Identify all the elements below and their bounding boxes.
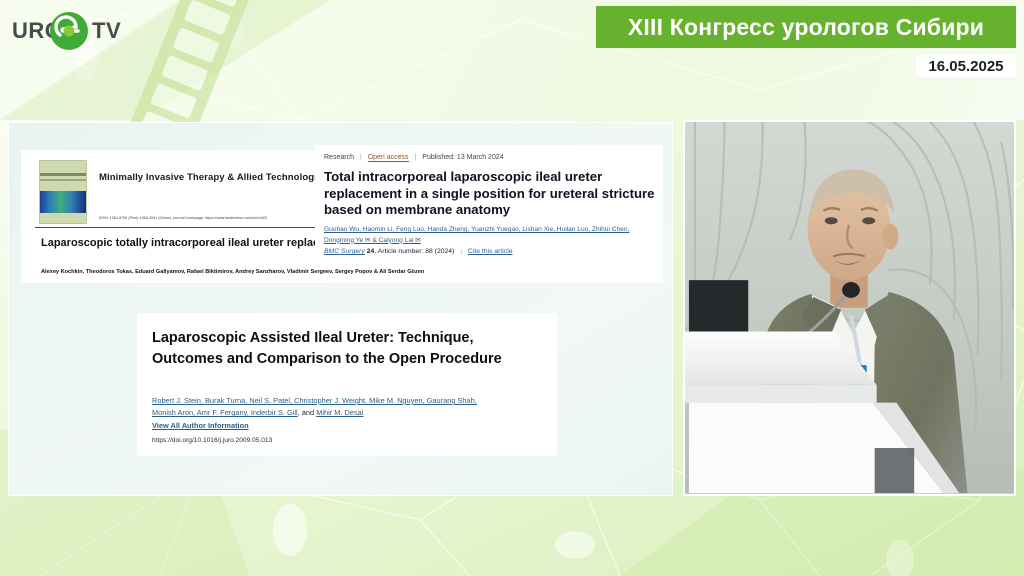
speaker-photo: [685, 122, 1014, 493]
cite-this-article-link[interactable]: Cite this article: [468, 248, 513, 255]
authors-line-2a[interactable]: Monish Aron, Amr F. Fergany, Inderbir S.…: [152, 408, 298, 417]
journal-name-bmc[interactable]: BMC Surgery: [324, 248, 365, 255]
speaker-video-frame: [683, 120, 1016, 496]
published-date-label: Published: 13 March 2024: [422, 154, 503, 161]
congress-title-text: XIII Конгресс урологов Сибири: [628, 14, 984, 41]
urotv-logo[interactable]: URO TV: [8, 8, 128, 48]
article-card-bmc: Research | Open access | Published: 13 M…: [315, 145, 663, 262]
article-number: Article number: 88 (2024): [378, 248, 455, 255]
article-meta-bmc: Research | Open access | Published: 13 M…: [324, 154, 504, 161]
article-citation-bmc: BMC Surgery 24, Article number: 88 (2024…: [324, 248, 512, 255]
open-access-link[interactable]: Open access: [368, 154, 409, 162]
article-type-label: Research: [324, 154, 354, 161]
view-all-author-information-link[interactable]: View All Author Information: [152, 421, 249, 430]
volume-number: 24: [367, 248, 375, 255]
date-badge: 16.05.2025: [916, 55, 1016, 77]
date-text: 16.05.2025: [928, 58, 1003, 75]
article-authors-juro[interactable]: Robert J. Stein, Burak Turna, Neil S. Pa…: [152, 395, 545, 419]
journal-cover-thumbnail: [39, 160, 87, 224]
presentation-screen: URO TV XIII Конгресс урологов Сибири 16.…: [0, 0, 1024, 576]
article-card-juro: Laparoscopic Assisted Ileal Ureter: Tech…: [137, 313, 557, 456]
authors-line-2b[interactable]: Mihir M. Desai: [316, 408, 363, 417]
congress-title-banner: XIII Конгресс урологов Сибири: [596, 6, 1016, 48]
logo-text-tv: TV: [92, 18, 121, 44]
journal-name: Minimally Invasive Therapy & Allied Tech…: [99, 172, 328, 183]
authors-conjunction: , and: [298, 408, 317, 417]
article-doi-juro[interactable]: https://doi.org/10.1016/j.juro.2009.05.0…: [152, 437, 272, 444]
authors-line-1[interactable]: Robert J. Stein, Burak Turna, Neil S. Pa…: [152, 396, 477, 405]
slide-panel: Minimally Invasive Therapy & Allied Tech…: [8, 122, 673, 496]
article-authors-bmc[interactable]: Guohao Wu, Haomin Li, Feng Luo, Handa Zh…: [324, 225, 655, 246]
logo-mark-icon: [50, 12, 88, 50]
article-authors-tf: Alexey Kochkin, Theodoros Tokas, Eduard …: [41, 268, 623, 277]
article-title-bmc: Total intracorporeal laparoscopic ileal …: [324, 169, 655, 219]
article-title-juro: Laparoscopic Assisted Ileal Ureter: Tech…: [152, 328, 542, 369]
journal-issn-line: ISSN: 1364-5706 (Print) 1365-2931 (Onlin…: [99, 216, 267, 220]
